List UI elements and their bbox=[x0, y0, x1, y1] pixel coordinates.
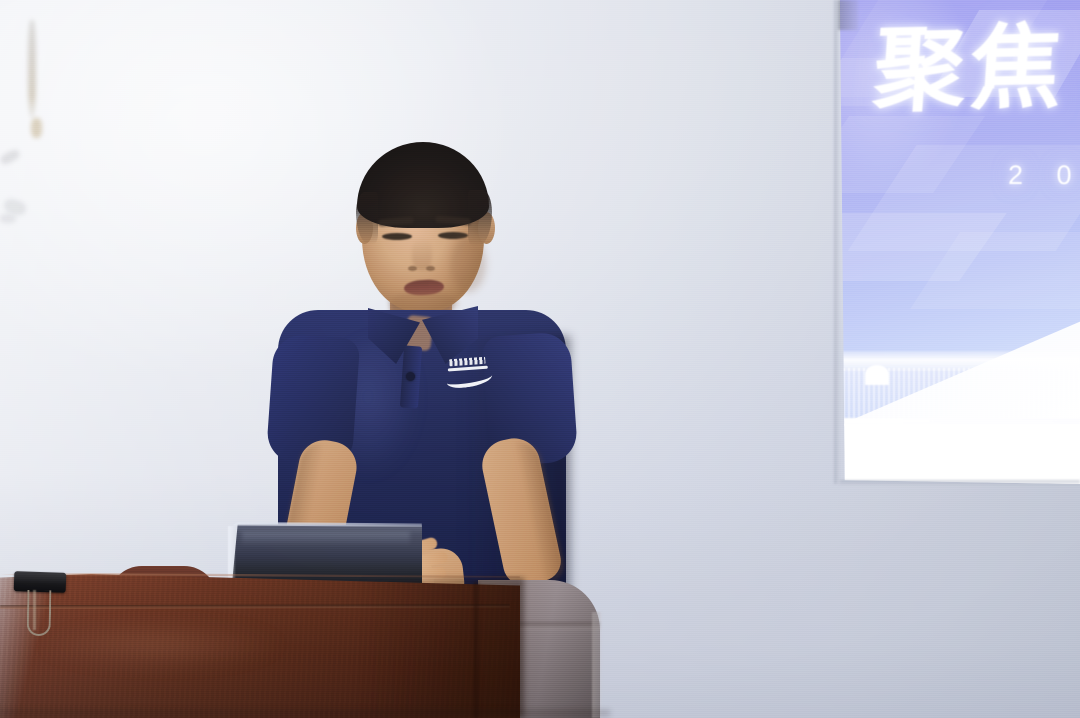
lectern-corner-seam bbox=[474, 582, 481, 718]
lectern-right-shading bbox=[360, 578, 524, 718]
eye-left bbox=[382, 233, 412, 240]
wall-mark-spot bbox=[31, 118, 42, 138]
nostril-left bbox=[408, 266, 417, 271]
wall-mark-streak bbox=[28, 20, 36, 118]
nostril-right bbox=[426, 266, 435, 271]
binder-clip-handle-inner bbox=[33, 590, 36, 630]
slide-year-text: 2 0 bbox=[1008, 160, 1080, 191]
lectern-sheen bbox=[40, 620, 340, 682]
wall-mark-scuff-edge bbox=[0, 214, 16, 223]
binder-clip-icon[interactable] bbox=[0, 560, 70, 630]
screen-left-edge bbox=[834, 0, 840, 484]
lectern-side-edge bbox=[592, 612, 602, 718]
laptop-gloss bbox=[242, 532, 410, 546]
lectern bbox=[0, 560, 620, 718]
slide-title-text: 聚焦 bbox=[871, 21, 1080, 117]
screen-frame-shadow bbox=[838, 0, 858, 30]
projection-screen: 聚焦 2 0 bbox=[838, 0, 1080, 484]
slide-bump-shape bbox=[865, 365, 889, 384]
shirt-button bbox=[406, 372, 415, 381]
photo-scene: 聚焦 2 0 bbox=[0, 0, 1080, 718]
brand-logo-icon bbox=[445, 356, 493, 385]
binder-clip-handle bbox=[27, 590, 52, 636]
cheek-shadow bbox=[450, 236, 486, 292]
lectern-floor-shadow bbox=[0, 710, 610, 718]
slide-floor-block bbox=[838, 424, 1080, 485]
brand-logo-wordmark bbox=[449, 357, 485, 366]
screen-bottom-edge bbox=[840, 480, 1080, 486]
